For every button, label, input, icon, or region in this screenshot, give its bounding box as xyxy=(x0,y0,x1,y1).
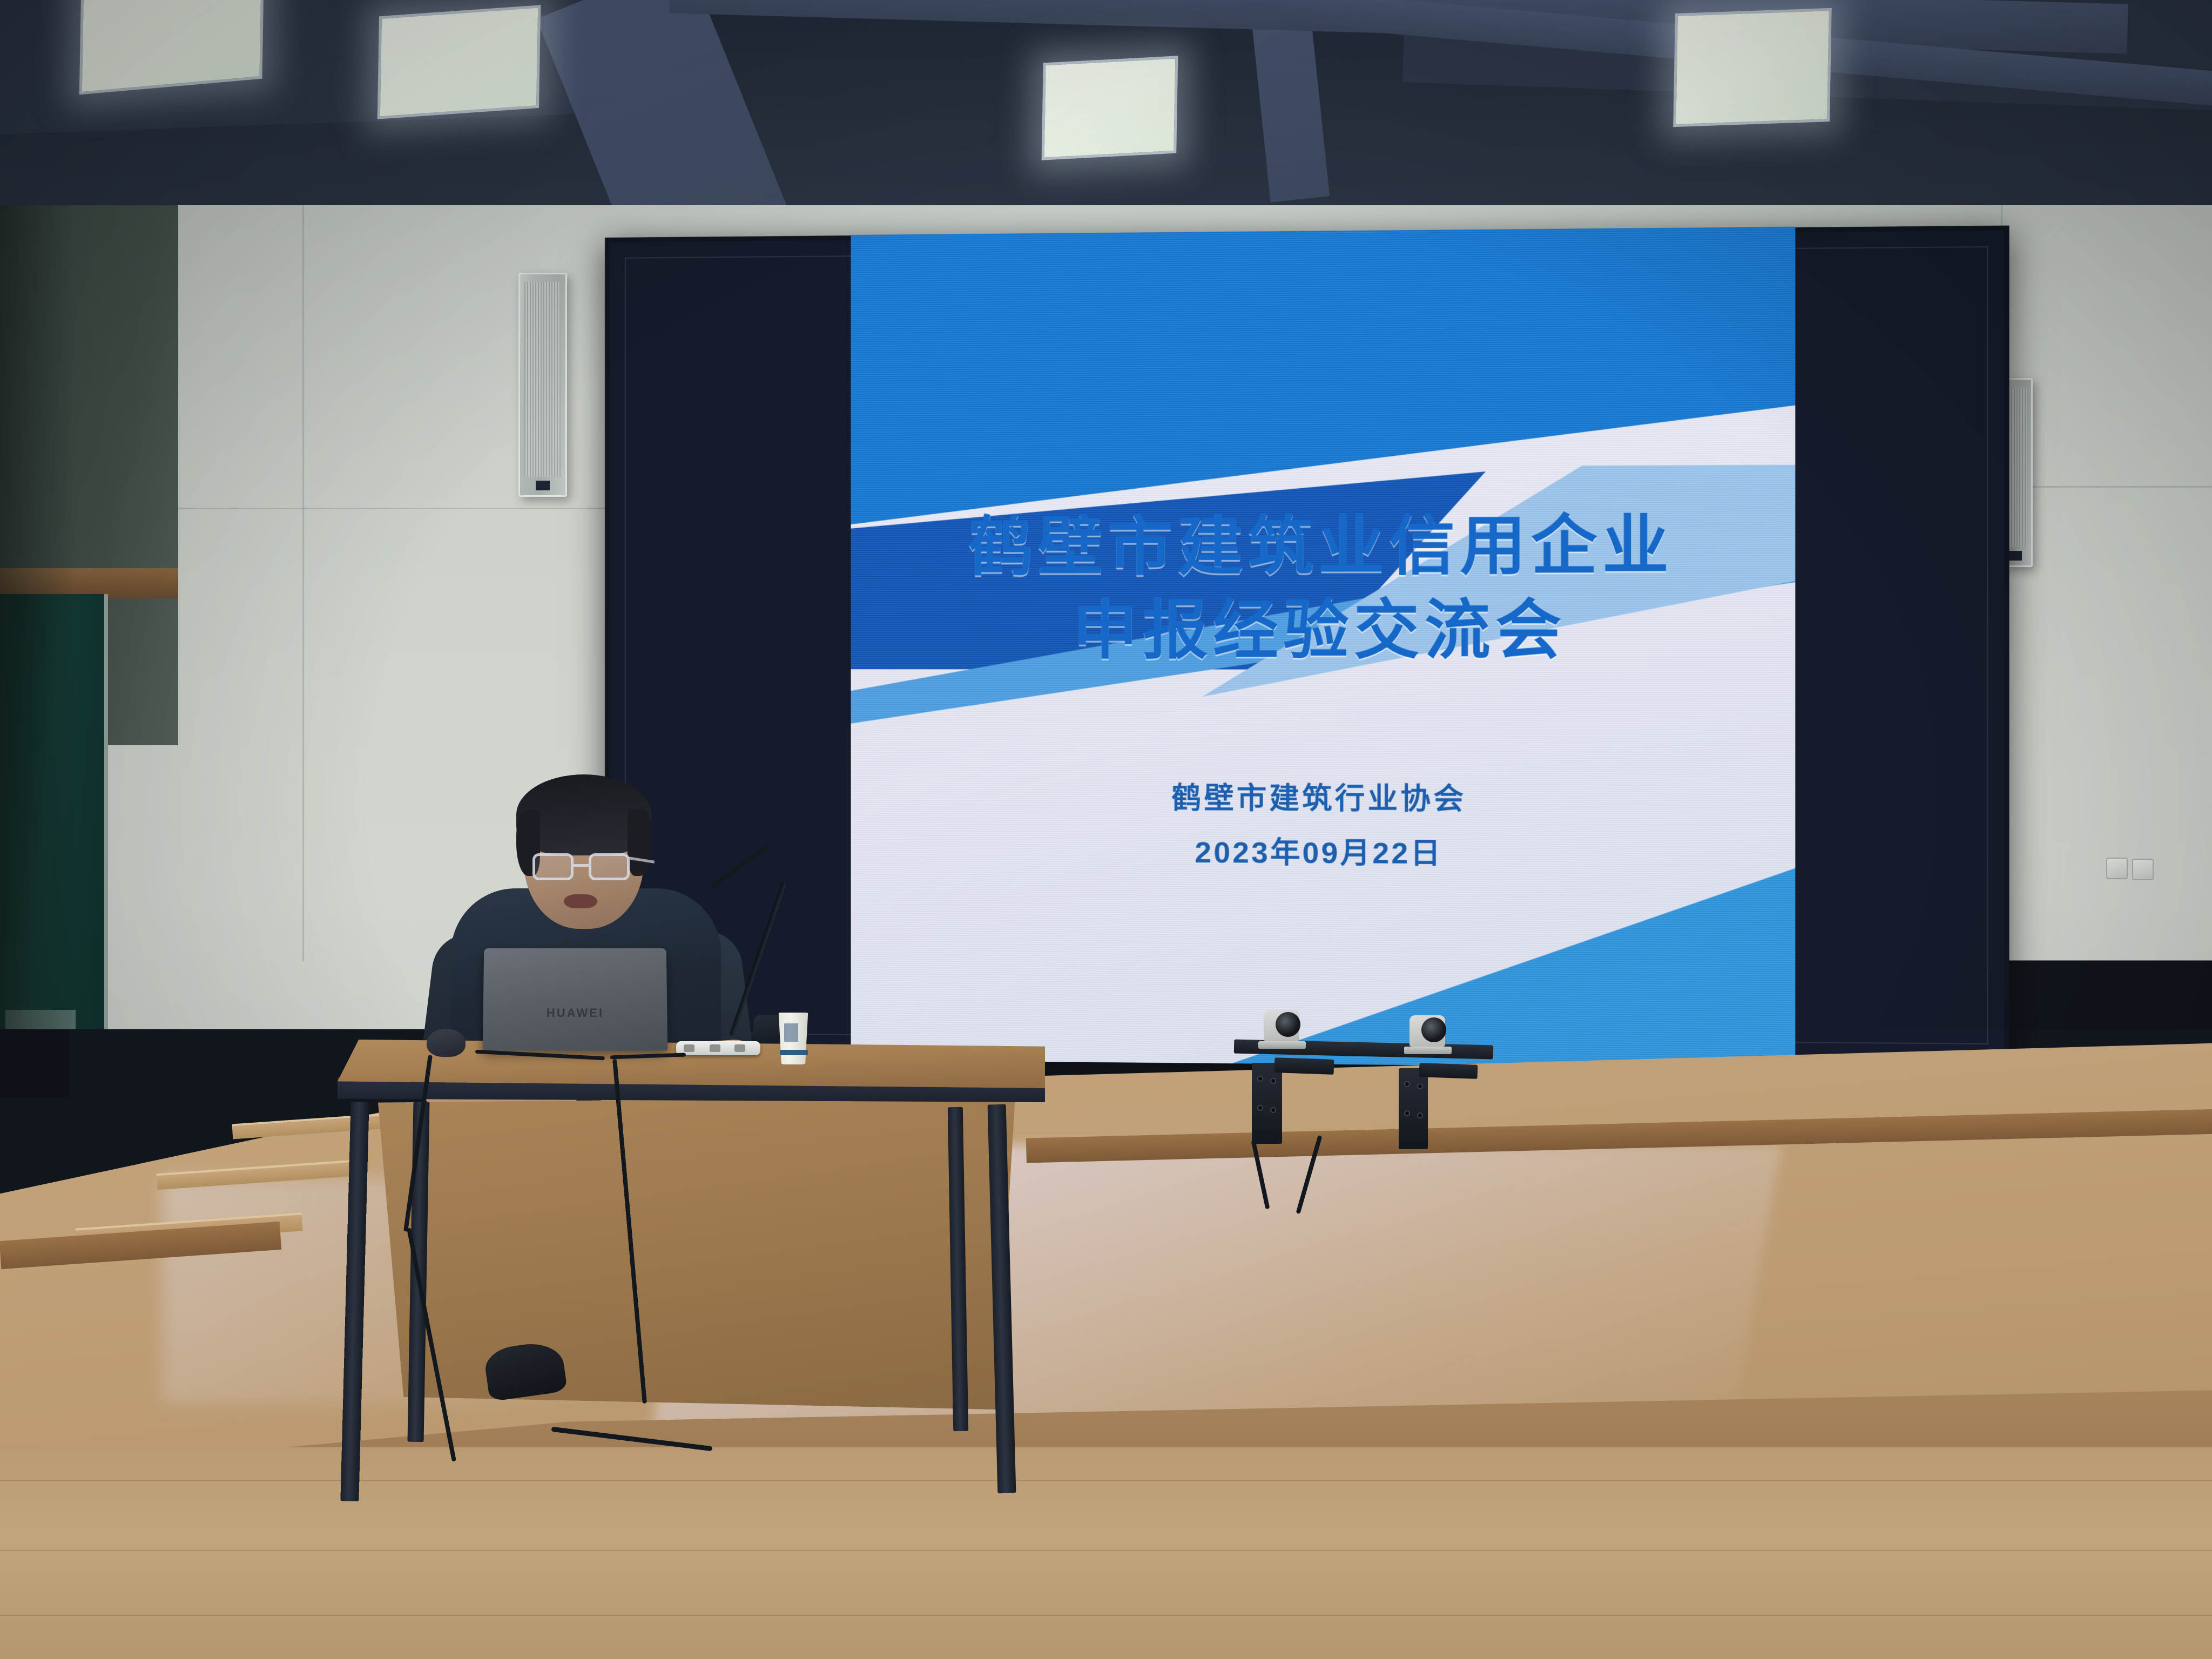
camera-lens xyxy=(1276,1012,1300,1037)
speaker-badge xyxy=(536,481,550,490)
power-adapter xyxy=(583,1453,653,1476)
floor-seam xyxy=(0,1480,2212,1481)
glasses-icon xyxy=(589,853,630,880)
bracket-hole xyxy=(1270,1078,1276,1084)
camera-bracket-arm xyxy=(1274,1057,1334,1075)
floor-seam xyxy=(0,1550,2212,1551)
slide-title-block: 鹤壁市建筑业信用企业 申报经验交流会 xyxy=(851,504,1796,674)
camera-body xyxy=(1410,1015,1445,1047)
bracket-hole xyxy=(1404,1081,1410,1087)
cup-logo xyxy=(784,1023,798,1042)
slide-title-line-2: 申报经验交流会 xyxy=(851,589,1796,673)
glasses-icon xyxy=(532,853,574,880)
computer-mouse[interactable] xyxy=(427,1029,466,1057)
speaker-grille xyxy=(524,282,561,477)
conference-hall-photo: 鹤壁市建筑业信用企业 申报经验交流会 鹤壁市建筑行业协会 2023年09月22日 xyxy=(0,0,2212,1659)
bracket-hole xyxy=(1257,1105,1263,1111)
bracket-hole xyxy=(1417,1112,1423,1118)
slide-title-line-1: 鹤壁市建筑业信用企业 xyxy=(851,504,1796,590)
laptop-brand-label: HUAWEI xyxy=(547,1006,604,1020)
camera-bracket-arm xyxy=(1419,1063,1478,1079)
presenter-hair xyxy=(628,809,652,876)
wall-seam xyxy=(302,205,304,961)
cup-band xyxy=(780,1050,808,1055)
camera-base xyxy=(1404,1047,1452,1054)
power-socket xyxy=(734,1044,745,1052)
desk-front-panel xyxy=(378,1096,1015,1410)
wall-outlet[interactable] xyxy=(2132,859,2154,880)
slide-organization: 鹤壁市建筑行业协会 xyxy=(851,778,1796,821)
bracket-hole xyxy=(1270,1107,1276,1113)
ceiling-light-panel xyxy=(79,0,265,95)
wall-shadow xyxy=(0,205,76,1318)
ceiling xyxy=(0,0,2212,232)
bracket-hole xyxy=(1257,1076,1263,1082)
ceiling-light-panel xyxy=(377,5,541,119)
laptop[interactable]: HUAWEI xyxy=(483,948,668,1051)
bracket-hole xyxy=(1404,1110,1410,1116)
speaker-badge xyxy=(2008,551,2022,561)
camera-lens xyxy=(1421,1017,1446,1042)
slide-date: 2023年09月22日 xyxy=(851,829,1796,878)
ceiling-light-panel xyxy=(1042,56,1178,160)
presenter-mouth xyxy=(564,894,597,908)
power-socket xyxy=(710,1044,720,1052)
glasses-icon xyxy=(574,864,589,867)
camera-base xyxy=(1258,1041,1306,1049)
wall-outlet[interactable] xyxy=(2106,858,2128,879)
floor-seam xyxy=(0,1615,2212,1616)
ceiling-beam xyxy=(537,0,792,232)
bracket-hole xyxy=(1417,1083,1423,1089)
power-socket xyxy=(684,1044,694,1052)
camera-bracket-left xyxy=(1252,1063,1282,1144)
floor-power-strip[interactable] xyxy=(667,1447,743,1469)
power-strip[interactable] xyxy=(676,1041,760,1055)
slide-subtitle-block: 鹤壁市建筑行业协会 2023年09月22日 xyxy=(851,778,1796,878)
floor xyxy=(0,1447,2212,1659)
led-video-wall: 鹤壁市建筑业信用企业 申报经验交流会 鹤壁市建筑行业协会 2023年09月22日 xyxy=(605,226,2009,1065)
presentation-slide: 鹤壁市建筑业信用企业 申报经验交流会 鹤壁市建筑行业协会 2023年09月22日 xyxy=(851,227,1796,1068)
camera-bracket-right xyxy=(1399,1068,1428,1149)
wall-speaker-left xyxy=(518,273,567,497)
camera-body xyxy=(1264,1010,1299,1041)
